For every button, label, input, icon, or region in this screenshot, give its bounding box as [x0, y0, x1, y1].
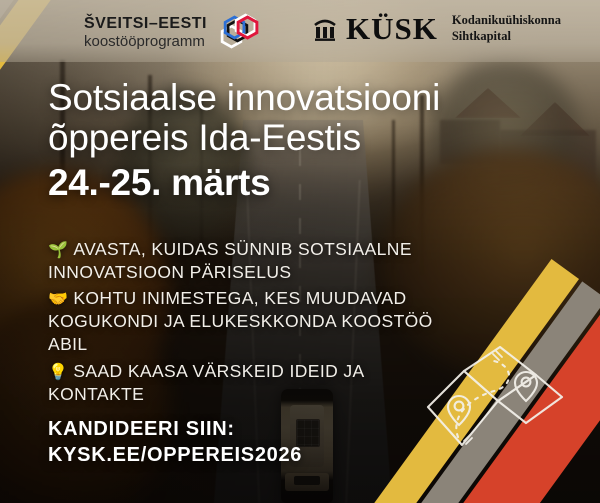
- list-item-line2: INNOVATSIOON PÄRISELUS: [48, 261, 448, 284]
- headline-line1: Sotsiaalse innovatsiooni: [48, 78, 548, 118]
- headline-line2: õppereis Ida-Eestis: [48, 118, 548, 158]
- list-item: 🌱AVASTA, KUIDAS SÜNNIB SOTSIAALNE INNOVA…: [48, 238, 448, 284]
- list-item-line1: KOHTU INIMESTEGA, KES MUUDAVAD: [73, 288, 406, 308]
- benefit-list: 🌱AVASTA, KUIDAS SÜNNIB SOTSIAALNE INNOVA…: [48, 238, 448, 409]
- list-item-line1: SAAD KAASA VÄRSKEID IDEID JA: [73, 361, 364, 381]
- list-item: 💡SAAD KAASA VÄRSKEID IDEID JA KONTAKTE: [48, 360, 448, 406]
- event-date: 24.-25. märts: [48, 162, 270, 204]
- event-poster: ŠVEITSI–EESTI koostööprogramm: [0, 0, 600, 503]
- list-item: 🤝KOHTU INIMESTEGA, KES MUUDAVAD KOGUKOND…: [48, 287, 448, 356]
- lightbulb-icon: 💡: [48, 364, 68, 381]
- seedling-icon: 🌱: [48, 242, 68, 259]
- list-item-line3: ABIL: [48, 333, 448, 356]
- list-item-line2: KONTAKTE: [48, 383, 448, 406]
- cta-label: KANDIDEERI SIIN:: [48, 417, 302, 443]
- page-title: Sotsiaalse innovatsiooni õppereis Ida-Ee…: [48, 78, 548, 158]
- list-item-line2: KOGUKONDI JA ELUKESKKONDA KOOSTÖÖ: [48, 310, 448, 333]
- handshake-icon: 🤝: [48, 291, 68, 308]
- poster-content: Sotsiaalse innovatsiooni õppereis Ida-Ee…: [0, 0, 600, 503]
- cta-url[interactable]: KYSK.EE/OPPEREIS2026: [48, 443, 302, 469]
- folded-map-icon: [420, 345, 570, 465]
- call-to-action[interactable]: KANDIDEERI SIIN: KYSK.EE/OPPEREIS2026: [48, 417, 302, 468]
- list-item-line1: AVASTA, KUIDAS SÜNNIB SOTSIAALNE: [73, 239, 412, 259]
